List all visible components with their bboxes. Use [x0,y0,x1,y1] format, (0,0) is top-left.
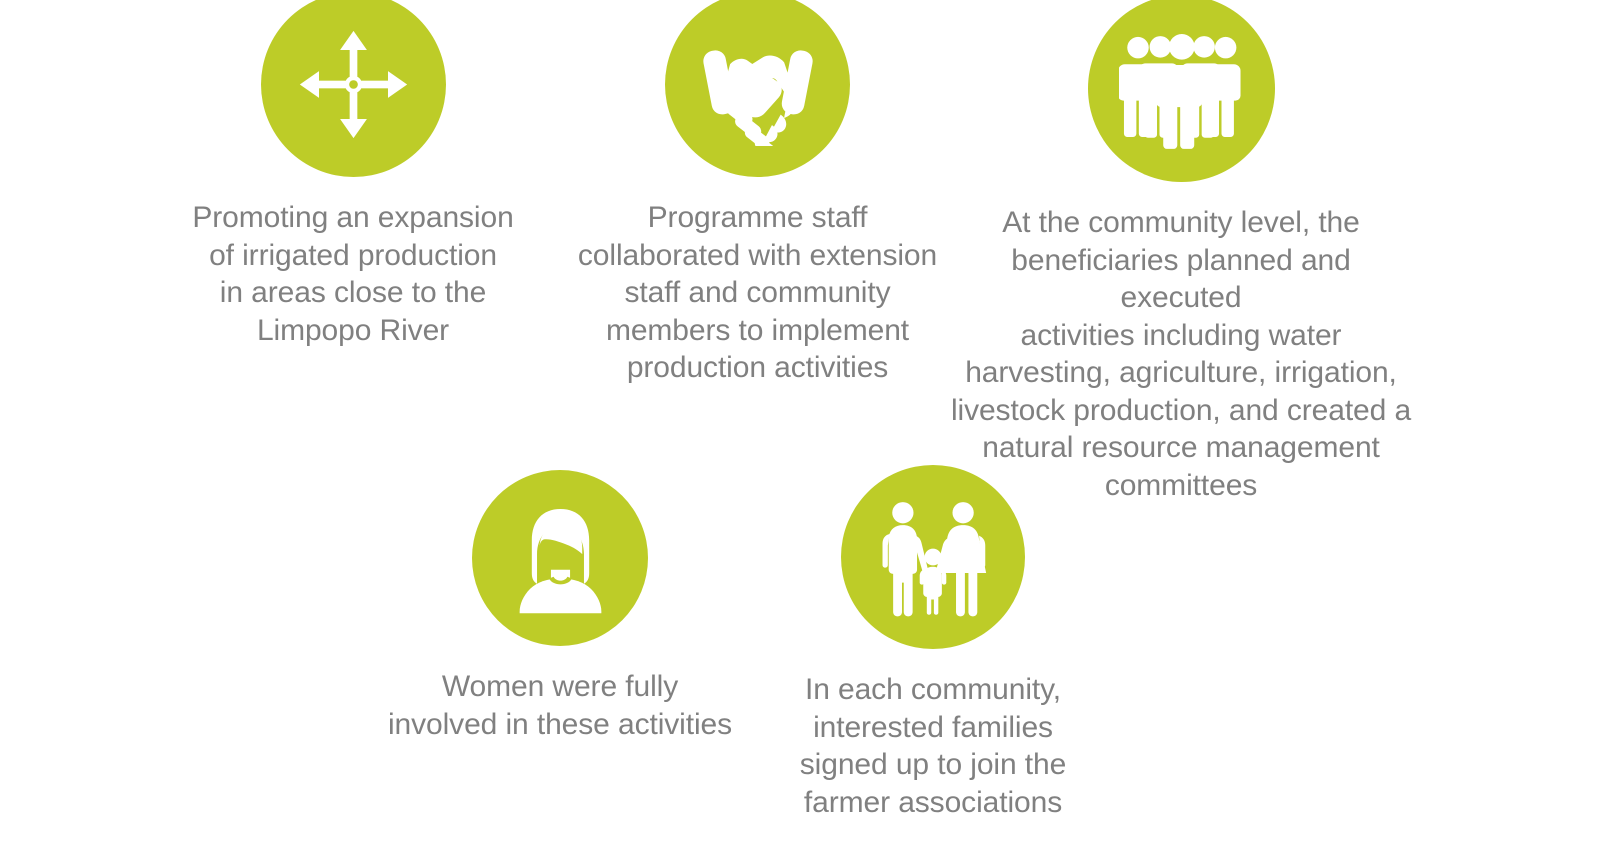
card-collaboration-caption: Programme staff collaborated with extens… [570,199,945,387]
family-icon [841,465,1025,649]
card-women: Women were fully involved in these activ… [385,470,735,743]
four-way-arrows-expand-icon [261,0,446,177]
woman-avatar-icon [472,470,648,646]
card-families-caption: In each community, interested families s… [788,671,1078,821]
infographic-canvas: Promoting an expansion of irrigated prod… [0,0,1600,843]
card-community: At the community level, the beneficiarie… [950,0,1412,504]
card-families: In each community, interested families s… [788,465,1078,821]
group-of-people-icon [1088,0,1275,182]
card-expansion: Promoting an expansion of irrigated prod… [178,0,528,349]
handshake-icon [665,0,850,177]
card-collaboration: Programme staff collaborated with extens… [570,0,945,387]
card-expansion-caption: Promoting an expansion of irrigated prod… [178,199,528,349]
card-women-caption: Women were fully involved in these activ… [385,668,735,743]
card-community-caption: At the community level, the beneficiarie… [950,204,1412,504]
